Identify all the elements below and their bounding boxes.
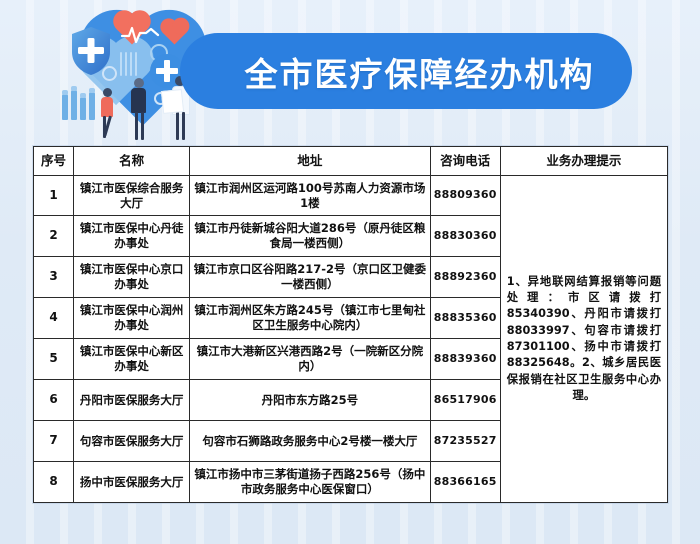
- column-header-tel: 咨询电话: [430, 147, 500, 176]
- person-head: [103, 88, 112, 97]
- person-figure-red: [98, 88, 116, 140]
- cell-index: 6: [34, 380, 74, 421]
- cell-name: 镇江市医保中心丹徒办事处: [74, 216, 190, 257]
- cell-index: 8: [34, 462, 74, 503]
- person-figure-suit: [129, 78, 149, 140]
- cell-name: 丹阳市医保服务大厅: [74, 380, 190, 421]
- cell-tel: 88839360: [430, 339, 500, 380]
- cell-index: 7: [34, 421, 74, 462]
- cell-address: 镇江市润州区运河路100号苏南人力资源市场1楼: [190, 176, 430, 216]
- cell-address: 丹阳市东方路25号: [190, 380, 430, 421]
- cell-name: 句容市医保服务大厅: [74, 421, 190, 462]
- cell-tel: 88835360: [430, 298, 500, 339]
- cell-tel: 88830360: [430, 216, 500, 257]
- cell-index: 1: [34, 176, 74, 216]
- cell-index: 2: [34, 216, 74, 257]
- cell-address: 镇江市扬中市三茅街道扬子西路256号（扬中市政务服务中心医保窗口）: [190, 462, 430, 503]
- column-header-address: 地址: [190, 147, 430, 176]
- cell-name: 镇江市医保综合服务大厅: [74, 176, 190, 216]
- cell-name: 镇江市医保中心润州办事处: [74, 298, 190, 339]
- cell-name: 镇江市医保中心京口办事处: [74, 257, 190, 298]
- cell-index: 5: [34, 339, 74, 380]
- column-header-note: 业务办理提示: [500, 147, 667, 176]
- cell-address: 镇江市大港新区兴港西路2号（一院新区分院内）: [190, 339, 430, 380]
- agency-table: 序号 名称 地址 咨询电话 业务办理提示 1 镇江市医保综合服务大厅 镇江市润州…: [33, 146, 668, 503]
- person-leg: [141, 112, 144, 140]
- cell-tel: 87235527: [430, 421, 500, 462]
- ecg-line-icon: [120, 22, 160, 44]
- cell-business-note: 1、异地联网结算报销等问题处理：市区请拨打85340390、丹阳市请拨打8803…: [500, 176, 667, 503]
- cell-address: 句容市石狮路政务服务中心2号楼一楼大厅: [190, 421, 430, 462]
- page-title: 全市医疗保障经办机构: [222, 44, 617, 100]
- page-banner: 全市医疗保障经办机构: [0, 0, 700, 142]
- person-head: [134, 78, 144, 88]
- agency-table-panel: 序号 名称 地址 咨询电话 业务办理提示 1 镇江市医保综合服务大厅 镇江市润州…: [33, 146, 668, 503]
- person-body: [101, 97, 113, 117]
- person-leg: [182, 112, 185, 140]
- vials-icon: [62, 84, 96, 120]
- cell-address: 镇江市丹徒新城谷阳大道286号（原丹徒区粮食局一楼西侧）: [190, 216, 430, 257]
- medical-insurance-illustration: [58, 8, 198, 140]
- cell-tel: 88892360: [430, 257, 500, 298]
- person-body: [131, 88, 146, 113]
- person-leg: [135, 112, 138, 140]
- clipboard-icon: [161, 89, 184, 114]
- cell-tel: 88366165: [430, 462, 500, 503]
- decorative-lines: [120, 52, 146, 78]
- cell-tel: 86517906: [430, 380, 500, 421]
- column-header-name: 名称: [74, 147, 190, 176]
- business-note-text: 1、异地联网结算报销等问题处理：市区请拨打85340390、丹阳市请拨打8803…: [507, 274, 661, 405]
- cell-name: 扬中市医保服务大厅: [74, 462, 190, 503]
- table-header-row: 序号 名称 地址 咨询电话 业务办理提示: [34, 147, 668, 176]
- cell-address: 镇江市京口区谷阳路217-2号（京口区卫健委一楼西侧）: [190, 257, 430, 298]
- person-leg: [176, 112, 179, 140]
- cell-index: 4: [34, 298, 74, 339]
- shield-cross-icon: [70, 26, 112, 76]
- page-root: 全市医疗保障经办机构 序号 名称 地址 咨询电话 业务办理提示 1 镇江市医保综…: [0, 0, 700, 544]
- column-header-index: 序号: [34, 147, 74, 176]
- cell-name: 镇江市医保中心新区办事处: [74, 339, 190, 380]
- cell-index: 3: [34, 257, 74, 298]
- table-row: 1 镇江市医保综合服务大厅 镇江市润州区运河路100号苏南人力资源市场1楼 88…: [34, 176, 668, 216]
- cell-address: 镇江市润州区朱方路245号（镇江市七里甸社区卫生服务中心院内）: [190, 298, 430, 339]
- cell-tel: 88809360: [430, 176, 500, 216]
